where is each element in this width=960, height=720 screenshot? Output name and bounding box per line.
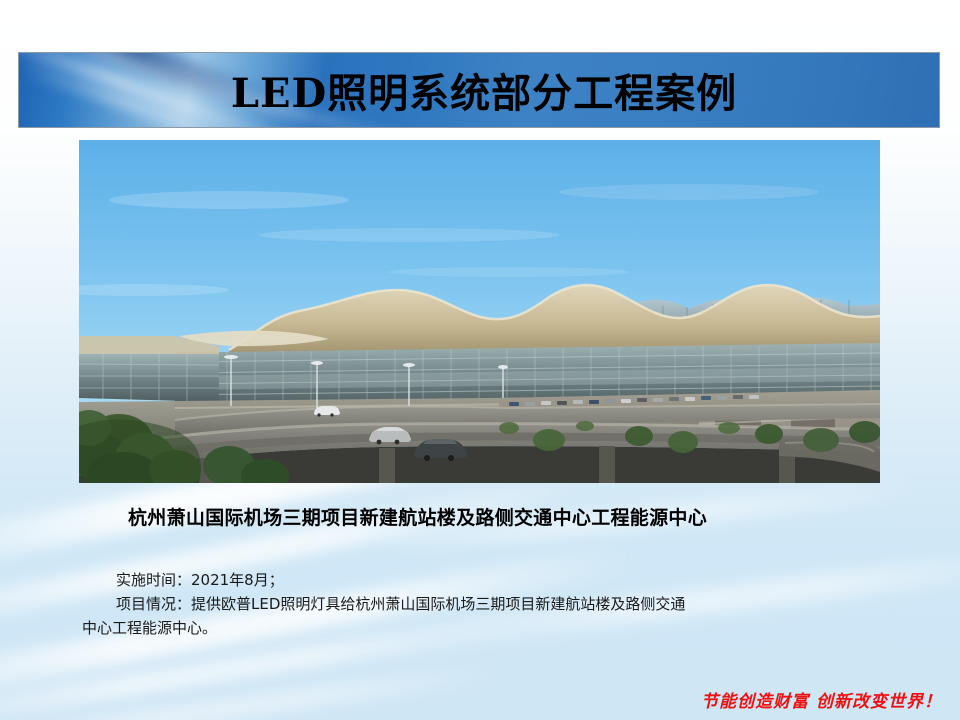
title-banner: LED照明系统部分工程案例 bbox=[18, 52, 940, 128]
project-photo bbox=[79, 140, 880, 483]
photo-caption: 杭州萧山国际机场三期项目新建航站楼及路侧交通中心工程能源中心 bbox=[128, 503, 868, 530]
project-photo-illustration bbox=[79, 140, 880, 483]
body-line-project-overview-cont: 中心工程能源中心。 bbox=[82, 616, 842, 640]
body-line-implementation-time: 实施时间：2021年8月； bbox=[82, 568, 842, 592]
body-text: 实施时间：2021年8月； 项目情况：提供欧普LED照明灯具给杭州萧山国际机场三… bbox=[82, 568, 842, 640]
slide: LED照明系统部分工程案例 bbox=[0, 0, 960, 720]
body-line-project-overview: 项目情况：提供欧普LED照明灯具给杭州萧山国际机场三期项目新建航站楼及路侧交通 bbox=[82, 592, 842, 616]
slide-title: LED照明系统部分工程案例 bbox=[19, 53, 939, 127]
footer-slogan: 节能创造财富 创新改变世界！ bbox=[701, 687, 942, 712]
